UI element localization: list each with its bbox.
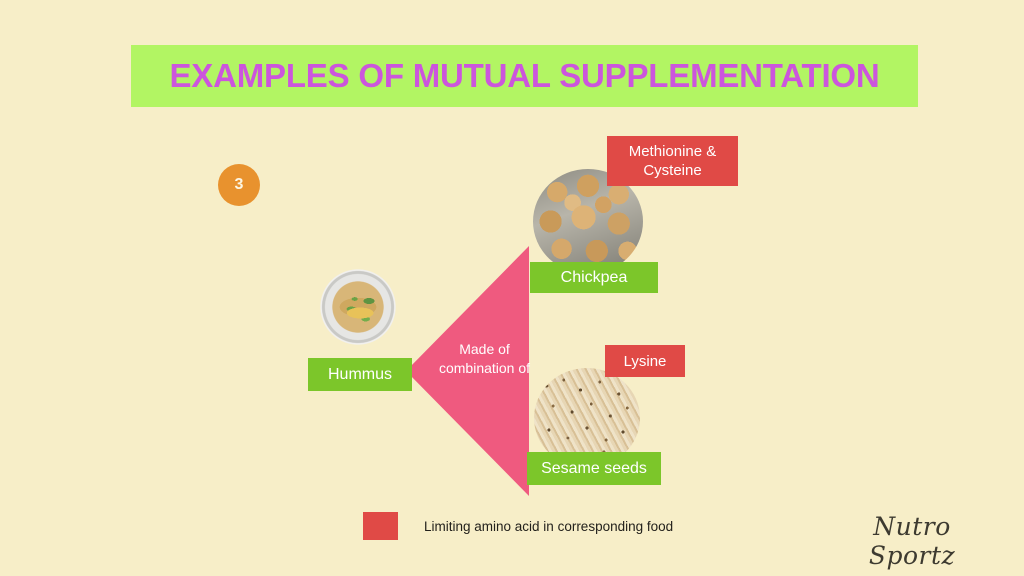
food-label-hummus-text: Hummus (328, 366, 392, 384)
amino-acid-label-methionine-cysteine: Methionine & Cysteine (607, 136, 738, 186)
brand-watermark: Nutro Sportz (828, 512, 996, 570)
amino-acid-label-lysine-text: Lysine (624, 353, 667, 370)
hummus-swirl-detail (303, 257, 413, 357)
legend: Limiting amino acid in corresponding foo… (363, 512, 673, 540)
food-label-sesame-seeds-text: Sesame seeds (541, 460, 647, 478)
step-number-badge: 3 (218, 164, 260, 206)
hummus-image (303, 257, 413, 357)
slide-title-band: EXAMPLES OF MUTUAL SUPPLEMENTATION (131, 45, 918, 107)
legend-text: Limiting amino acid in corresponding foo… (424, 519, 673, 534)
amino-acid-label-lysine: Lysine (605, 345, 685, 377)
step-number-label: 3 (235, 176, 244, 194)
food-label-chickpea-text: Chickpea (561, 269, 628, 287)
legend-swatch-icon (363, 512, 398, 540)
page-title: EXAMPLES OF MUTUAL SUPPLEMENTATION (169, 57, 879, 95)
amino-acid-label-methionine-cysteine-text: Methionine & Cysteine (613, 142, 732, 180)
food-label-chickpea: Chickpea (530, 262, 658, 293)
food-label-hummus: Hummus (308, 358, 412, 391)
combination-arrow-label: Made of combination of (437, 340, 532, 378)
food-label-sesame-seeds: Sesame seeds (527, 452, 661, 485)
slide-canvas: EXAMPLES OF MUTUAL SUPPLEMENTATION 3 Mad… (0, 0, 1024, 576)
